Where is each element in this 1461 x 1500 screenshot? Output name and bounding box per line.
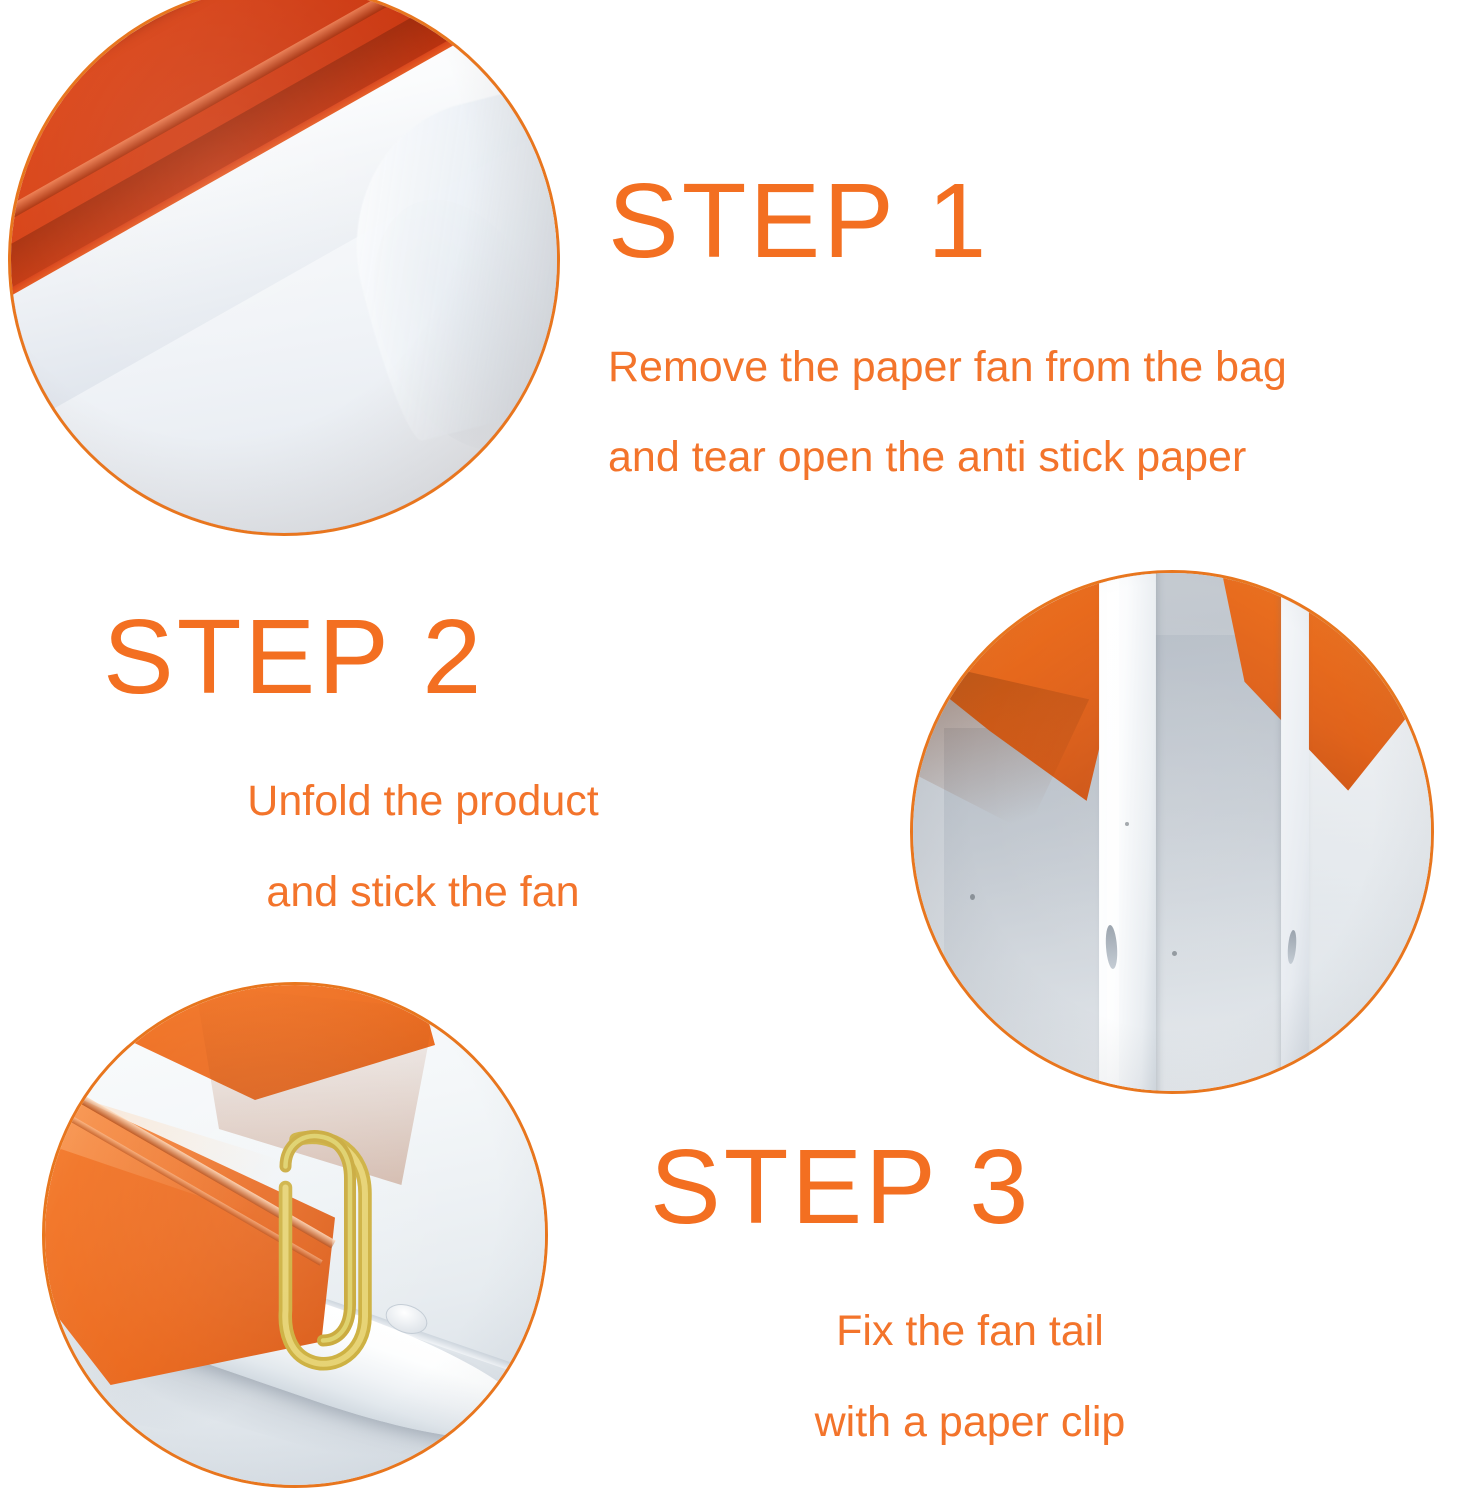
step-2-heading: STEP 2 — [103, 604, 743, 710]
step-2-photo-circle — [910, 570, 1434, 1094]
photo-vignette — [45, 985, 545, 1485]
step-2-line-1: Unfold the product — [103, 780, 743, 823]
photo-vignette — [913, 573, 1431, 1091]
step-3-line-1: Fix the fan tail — [650, 1310, 1290, 1353]
step-3-text-block: STEP 3 Fix the fan tail with a paper cli… — [650, 1134, 1290, 1444]
step-1-photo-circle — [8, 0, 560, 536]
step-1-heading: STEP 1 — [608, 168, 1287, 274]
step-1-photo-content — [11, 0, 557, 533]
step-2-description: Unfold the product and stick the fan — [103, 780, 743, 914]
step-2-text-block: STEP 2 Unfold the product and stick the … — [103, 604, 743, 914]
step-1-description: Remove the paper fan from the bag and te… — [608, 346, 1287, 479]
step-3-heading: STEP 3 — [650, 1134, 1290, 1240]
step-1-line-1: Remove the paper fan from the bag — [608, 346, 1287, 389]
step-3-description: Fix the fan tail with a paper clip — [650, 1310, 1290, 1444]
step-1-text-block: STEP 1 Remove the paper fan from the bag… — [608, 168, 1287, 479]
step-3-photo-content — [45, 985, 545, 1485]
instruction-sheet: STEP 1 Remove the paper fan from the bag… — [0, 0, 1461, 1500]
step-2-line-2: and stick the fan — [103, 871, 743, 914]
step-1-line-2: and tear open the anti stick paper — [608, 436, 1287, 479]
photo-vignette — [11, 0, 557, 533]
step-2-photo-content — [913, 573, 1431, 1091]
step-3-photo-circle — [42, 982, 548, 1488]
step-3-line-2: with a paper clip — [650, 1401, 1290, 1444]
